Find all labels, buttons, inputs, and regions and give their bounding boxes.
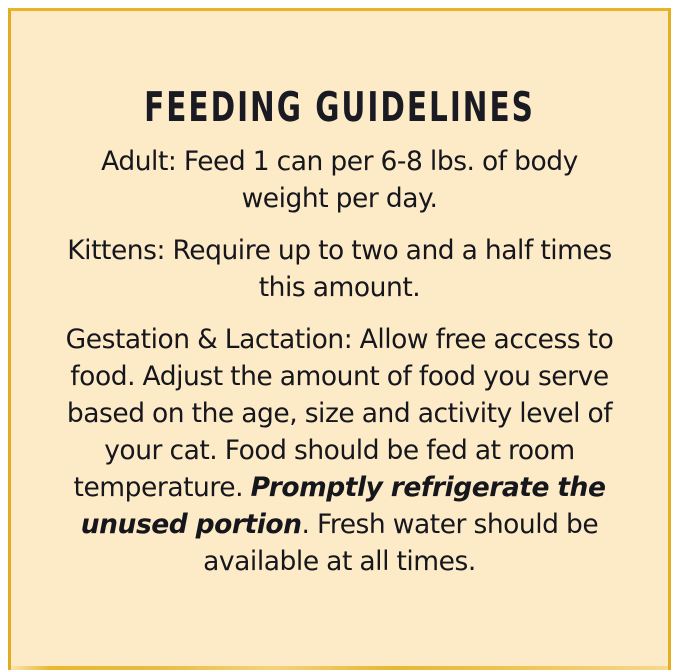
feeding-guidelines-label: FEEDING GUIDELINES Adult: Feed 1 can per… [0, 0, 679, 672]
label-border-frame: FEEDING GUIDELINES Adult: Feed 1 can per… [8, 8, 671, 670]
label-content: FEEDING GUIDELINES Adult: Feed 1 can per… [11, 11, 668, 580]
bottom-border-rule [11, 666, 668, 670]
paragraph-kittens: Kittens: Require up to two and a half ti… [60, 232, 620, 306]
paragraph-adult: Adult: Feed 1 can per 6-8 lbs. of body w… [60, 128, 620, 217]
page-title: FEEDING GUIDELINES [77, 11, 603, 128]
feeding-instructions: Adult: Feed 1 can per 6-8 lbs. of body w… [60, 128, 620, 580]
paragraph-gestation-lactation: Gestation & Lactation: Allow free access… [60, 321, 620, 580]
